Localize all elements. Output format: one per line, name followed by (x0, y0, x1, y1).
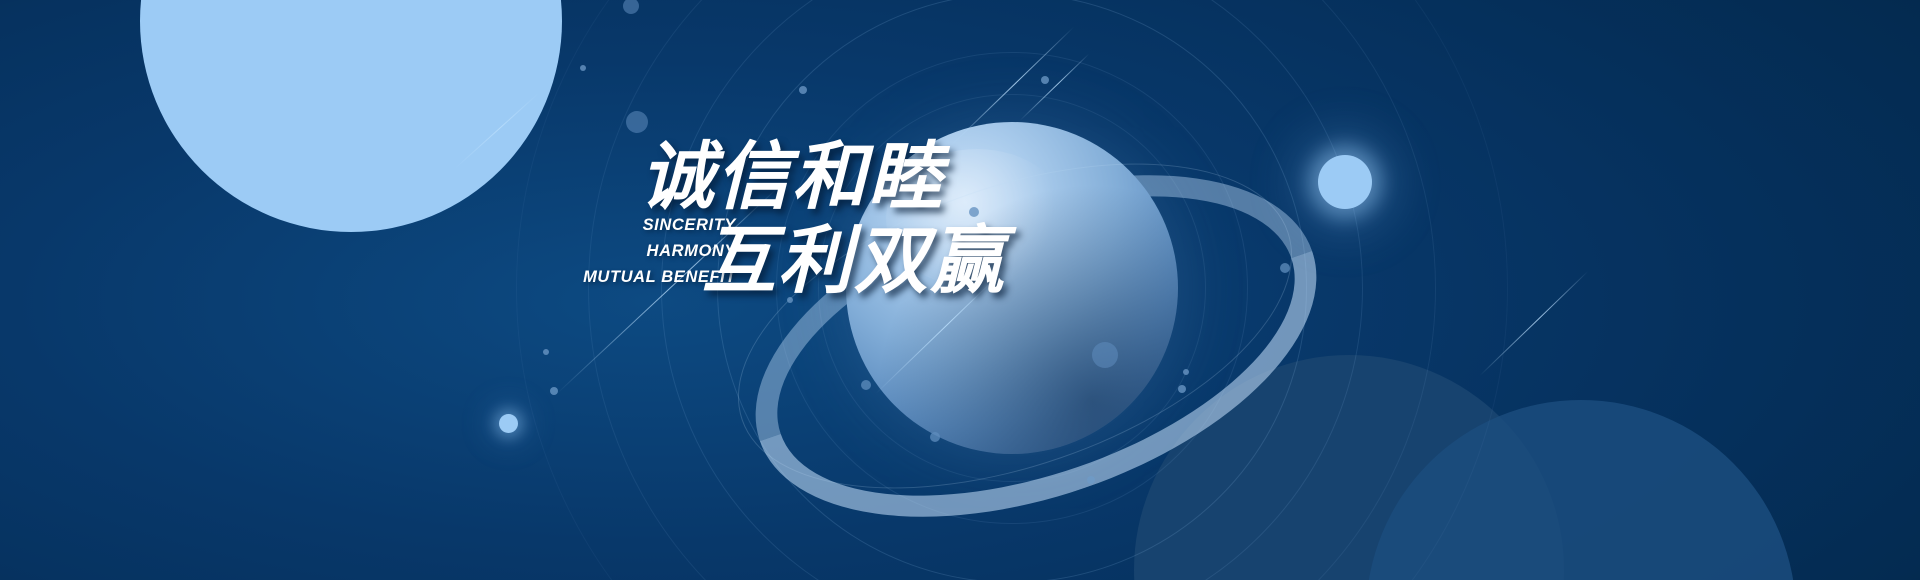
decor-dot (930, 432, 940, 442)
decor-dot (1178, 385, 1186, 393)
headline-line-1: 诚信和睦 (640, 140, 944, 214)
top-left-circle-decoration (140, 0, 562, 232)
headline-block: SINCERITY HARMONY MUTUAL BENEFIT 诚信和睦 互利… (640, 140, 1400, 340)
decor-dot (1087, 476, 1095, 484)
decor-dot (1092, 342, 1118, 368)
decor-dot (1041, 76, 1049, 84)
decor-dot (799, 86, 807, 94)
decor-dot (543, 349, 549, 355)
headline-line-2: 互利双赢 (702, 224, 1006, 298)
decor-dot (580, 65, 586, 71)
banner-hero: SINCERITY HARMONY MUTUAL BENEFIT 诚信和睦 互利… (0, 0, 1920, 580)
decor-dot (1183, 369, 1189, 375)
decor-dot (861, 380, 871, 390)
glow-orb-left (499, 414, 518, 433)
decor-dot (626, 111, 648, 133)
